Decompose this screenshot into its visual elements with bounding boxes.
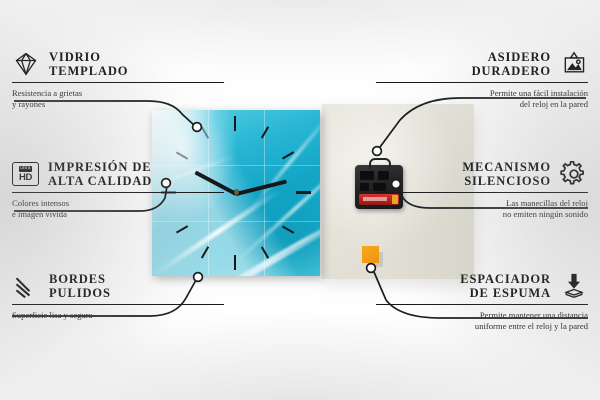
feature-title-line2: SILENCIOSO bbox=[462, 174, 551, 188]
feature-title-line1: ASIDERO bbox=[472, 50, 551, 64]
foam-spacer-icon bbox=[560, 273, 588, 299]
feature-desc-line1: Las manecillas del reloj bbox=[376, 198, 588, 209]
feature-espaciador-de-espuma: ESPACIADOR DE ESPUMA Permite mantener un… bbox=[376, 272, 588, 332]
feature-desc-line2: e imagen vívida bbox=[12, 209, 224, 220]
feature-desc-line2: y rayones bbox=[12, 99, 224, 110]
ultra-hd-icon: ultra HD bbox=[12, 162, 39, 186]
feature-divider bbox=[12, 304, 224, 305]
feature-title-line1: ESPACIADOR bbox=[460, 272, 551, 286]
diamond-icon bbox=[12, 51, 40, 77]
feature-desc-line1: Permite mantener una distancia bbox=[376, 310, 588, 321]
feature-title-line1: MECANISMO bbox=[462, 160, 551, 174]
feature-title-line2: DURADERO bbox=[472, 64, 551, 78]
feature-desc-line1: Superficie lisa y segura bbox=[12, 310, 224, 321]
infographic-canvas: VIDRIO TEMPLADO Resistencia a grietas y … bbox=[0, 0, 600, 400]
feature-desc-line1: Permite una fácil instalación bbox=[376, 88, 588, 99]
feature-desc-line1: Colores intensos bbox=[12, 198, 224, 209]
feature-title-line2: PULIDOS bbox=[49, 286, 111, 300]
feature-title-line1: BORDES bbox=[49, 272, 111, 286]
connector-endpoint-asidero bbox=[373, 147, 382, 156]
picture-hanger-icon bbox=[560, 51, 588, 77]
feature-title-line2: ALTA CALIDAD bbox=[48, 174, 152, 188]
feature-title-line2: DE ESPUMA bbox=[460, 286, 551, 300]
feature-desc-line2: no emiten ningún sonido bbox=[376, 209, 588, 220]
gear-icon bbox=[560, 161, 588, 187]
connector-endpoint-vidrio-templado bbox=[193, 123, 202, 132]
connector-endpoint-espaciador bbox=[367, 264, 376, 273]
feature-title-line1: IMPRESIÓN DE bbox=[48, 160, 152, 174]
feature-divider bbox=[12, 192, 224, 193]
feature-vidrio-templado: VIDRIO TEMPLADO Resistencia a grietas y … bbox=[12, 50, 224, 110]
feature-divider bbox=[376, 192, 588, 193]
hd-badge-small-label: ultra bbox=[19, 166, 33, 172]
feature-bordes-pulidos: BORDES PULIDOS Superficie lisa y segura bbox=[12, 272, 224, 321]
feature-divider bbox=[12, 82, 224, 83]
feature-mecanismo-silencioso: MECANISMO SILENCIOSO Las manecillas del … bbox=[376, 160, 588, 220]
feature-title-line1: VIDRIO bbox=[49, 50, 128, 64]
feature-desc-line1: Resistencia a grietas bbox=[12, 88, 224, 99]
feature-asidero-duradero: ASIDERO DURADERO Permite una fácil insta… bbox=[376, 50, 588, 110]
hd-badge-large-label: HD bbox=[19, 173, 32, 183]
feature-impresion-alta-calidad: ultra HD IMPRESIÓN DE ALTA CALIDAD Color… bbox=[12, 160, 224, 220]
feature-divider bbox=[376, 82, 588, 83]
feature-desc-line2: del reloj en la pared bbox=[376, 99, 588, 110]
polished-edges-icon bbox=[12, 273, 40, 299]
feature-divider bbox=[376, 304, 588, 305]
feature-title-line2: TEMPLADO bbox=[49, 64, 128, 78]
feature-desc-line2: uniforme entre el reloj y la pared bbox=[376, 321, 588, 332]
